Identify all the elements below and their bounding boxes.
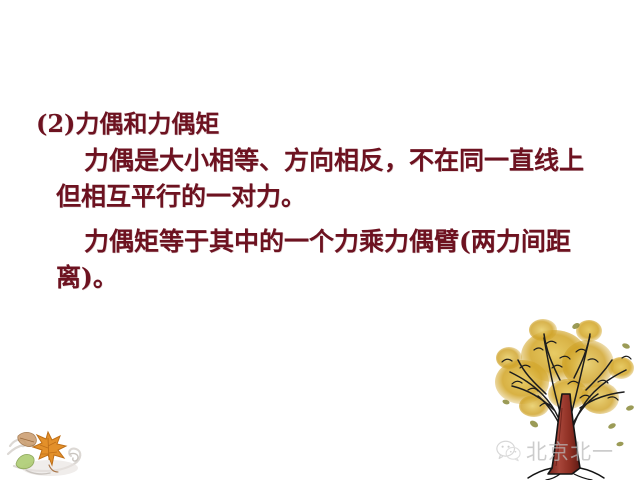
slide-canvas: (2)力偶和力偶矩 力偶是大小相等、方向相反，不在同一直线上但相互平行的一对力。… [0,0,640,480]
ornament-swirl [8,440,80,471]
watermark-text: 北京北一 [526,436,614,466]
falling-leaves [502,322,635,447]
wechat-logo-icon [495,438,521,464]
autumn-tree-icon [476,298,638,480]
autumn-leaves-ornament-icon [4,420,108,478]
maple-leaf [33,432,66,472]
watermark: 北京北一 [495,434,621,468]
tree-foliage [495,319,634,417]
ornament-tendrils [26,453,78,474]
brown-leaf [18,432,37,446]
tree-trunk [528,394,604,480]
definition-paragraph-couple: 力偶是大小相等、方向相反，不在同一直线上但相互平行的一对力。 [36,143,608,214]
definition-paragraph-couple-moment: 力偶矩等于其中的一个力乘力偶臂(两力间距离)。 [36,224,608,295]
green-leaf [16,454,34,468]
section-heading: (2)力偶和力偶矩 [36,108,608,139]
tree-branches [510,334,626,448]
slide-text-block: (2)力偶和力偶矩 力偶是大小相等、方向相反，不在同一直线上但相互平行的一对力。… [36,108,608,295]
tree-leaf-strokes [502,341,631,406]
